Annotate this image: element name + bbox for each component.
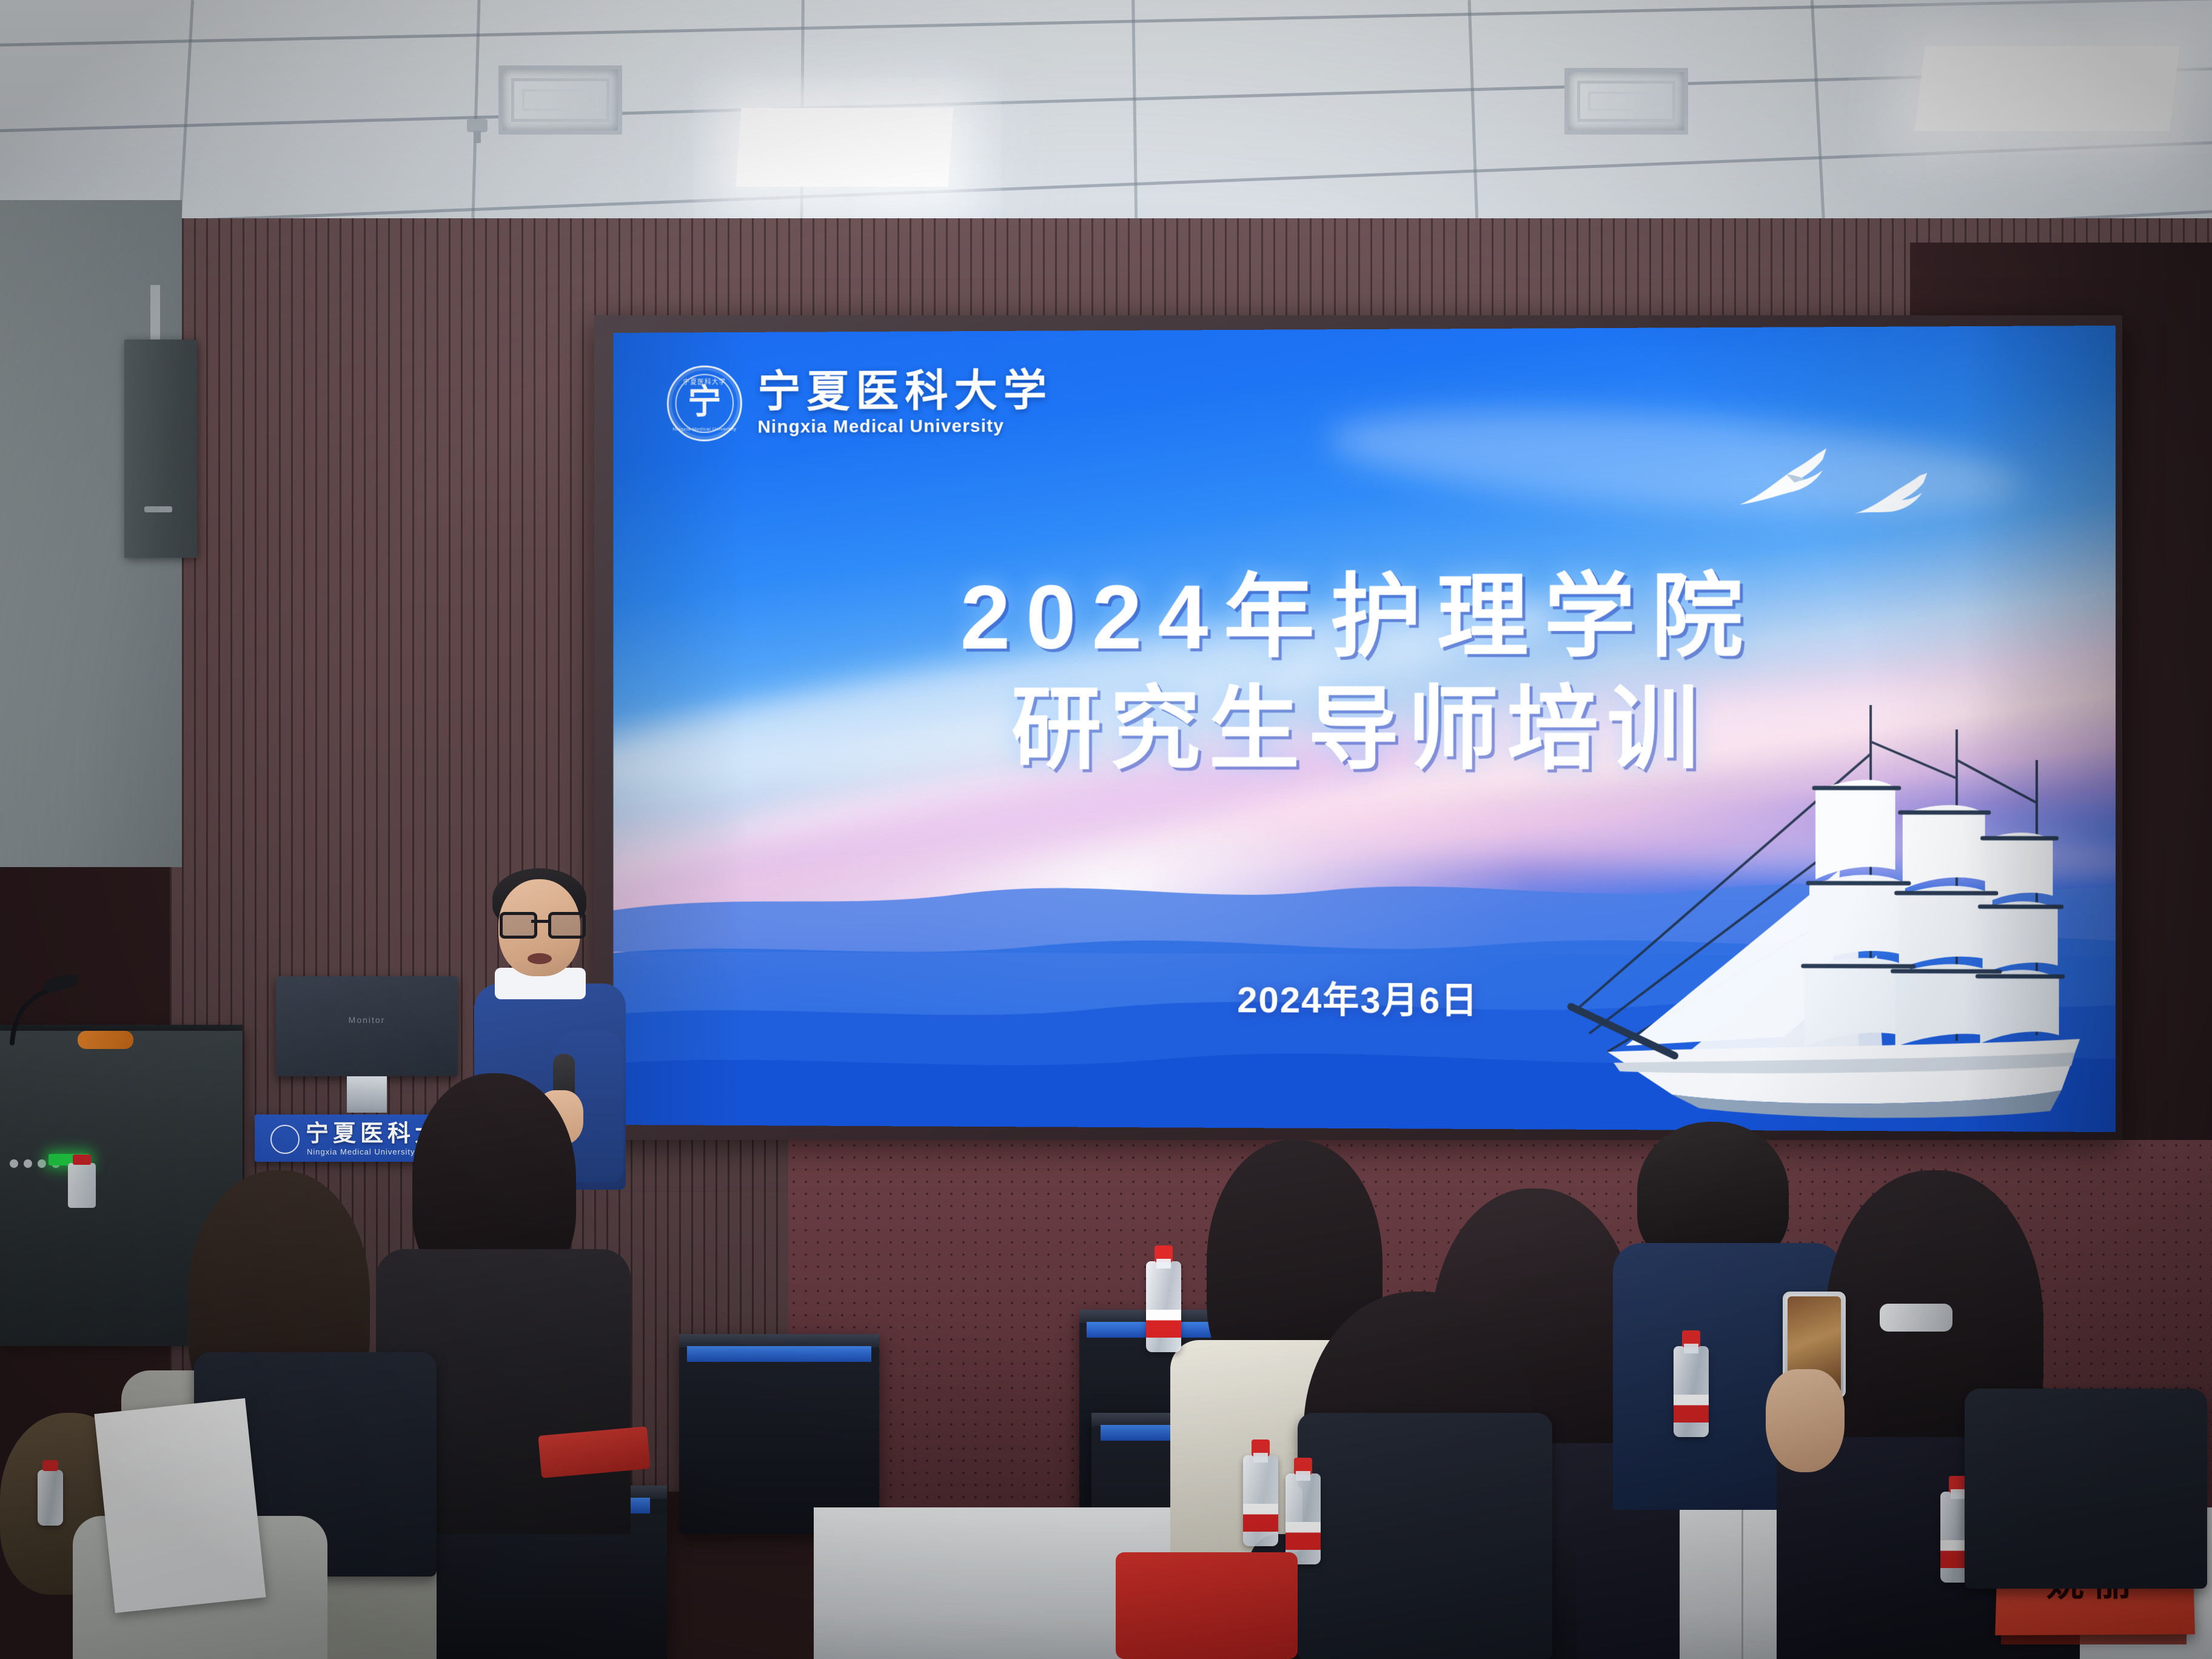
seal-ring-bottom-text: Ningxia Medical University xyxy=(669,426,740,432)
sprinkler-head-icon xyxy=(467,119,488,132)
podium-seal-icon xyxy=(270,1125,300,1154)
seagull-icon xyxy=(1736,446,1846,510)
monitor-brand-label: Monitor xyxy=(276,1015,458,1025)
document-paper xyxy=(94,1398,266,1613)
university-logo: 宁夏医科大学 宁 Ningxia Medical University 宁夏医科… xyxy=(667,364,1053,441)
seagull-icon xyxy=(1852,473,1932,521)
ceiling-light xyxy=(1914,46,2179,131)
glasses-icon xyxy=(500,912,580,933)
gooseneck-microphone-icon xyxy=(8,975,81,1048)
slide-title-line1: 2024年护理学院 xyxy=(613,568,2116,665)
podium-monitor: Monitor xyxy=(276,976,458,1076)
orange-cable-coil xyxy=(78,1031,133,1049)
hair-clip xyxy=(1880,1304,1952,1332)
wall-speaker xyxy=(124,340,197,558)
hand xyxy=(1766,1369,1845,1472)
university-name-cn: 宁夏医科大学 xyxy=(757,367,1053,415)
screenshot-root: 宁夏医科大学 宁 Ningxia Medical University 宁夏医科… xyxy=(0,0,2212,1659)
audience-table xyxy=(679,1334,879,1534)
water-bottle xyxy=(68,1163,96,1208)
seal-glyph: 宁 xyxy=(669,385,740,419)
water-bottle xyxy=(1243,1455,1278,1546)
water-bottle xyxy=(1146,1261,1181,1352)
water-bottle xyxy=(38,1470,63,1526)
sailing-ship-graphic xyxy=(1553,668,2105,1132)
audience-chair xyxy=(1965,1389,2207,1589)
water-bottle xyxy=(1674,1346,1709,1437)
led-display-screen[interactable]: 宁夏医科大学 宁 Ningxia Medical University 宁夏医科… xyxy=(613,326,2116,1132)
presenter-mouth xyxy=(528,953,552,964)
ceiling-light xyxy=(736,108,953,187)
air-vent-icon xyxy=(1564,68,1688,135)
university-seal-icon: 宁夏医科大学 宁 Ningxia Medical University xyxy=(667,366,742,441)
university-name-en: Ningxia Medical University xyxy=(757,416,1053,438)
red-bag xyxy=(1116,1552,1298,1659)
speaker-bracket xyxy=(150,285,160,346)
air-vent-icon xyxy=(498,65,622,135)
audience-chair xyxy=(1298,1413,1552,1659)
water-bottle xyxy=(1285,1473,1321,1564)
